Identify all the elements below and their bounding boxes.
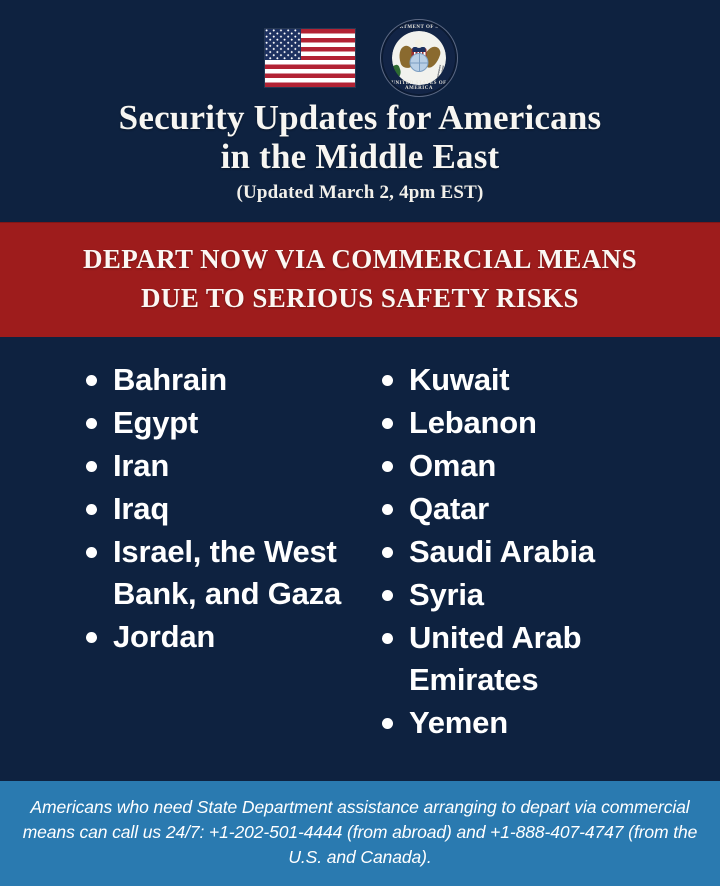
country-name: United Arab Emirates	[409, 617, 682, 701]
country-name: Israel, the West Bank, and Gaza	[113, 531, 376, 615]
list-item: Yemen	[382, 702, 682, 744]
security-update-infographic: DEPARTMENT OF STATE UNITED STATES OF AME…	[0, 0, 720, 886]
bullet-icon	[382, 375, 393, 386]
us-flag-icon	[265, 29, 355, 87]
page-title-line-2: in the Middle East	[30, 137, 690, 176]
list-item: Egypt	[86, 402, 376, 444]
bullet-icon	[382, 718, 393, 729]
country-list-left: Bahrain Egypt Iran Iraq Israel, the West…	[86, 359, 376, 781]
assistance-contact-text: Americans who need State Department assi…	[22, 795, 698, 870]
list-item: Syria	[382, 574, 682, 616]
list-item: Saudi Arabia	[382, 531, 682, 573]
list-item: Iran	[86, 445, 376, 487]
country-name: Kuwait	[409, 359, 509, 401]
page-title: Security Updates for Americans in the Mi…	[30, 98, 690, 176]
header: DEPARTMENT OF STATE UNITED STATES OF AME…	[0, 0, 720, 204]
bullet-icon	[86, 375, 97, 386]
emblem-row: DEPARTMENT OF STATE UNITED STATES OF AME…	[0, 26, 720, 90]
footer: Americans who need State Department assi…	[0, 781, 720, 886]
country-name: Qatar	[409, 488, 489, 530]
country-list-right: Kuwait Lebanon Oman Qatar Saudi Arabia S…	[382, 359, 682, 781]
country-name: Yemen	[409, 702, 508, 744]
bullet-icon	[382, 590, 393, 601]
list-item: Iraq	[86, 488, 376, 530]
alert-line-1: DEPART NOW VIA COMMERCIAL MEANS	[28, 240, 692, 278]
bullet-icon	[382, 461, 393, 472]
bullet-icon	[382, 418, 393, 429]
country-name: Syria	[409, 574, 484, 616]
seal-arc-bottom-text: UNITED STATES OF AMERICA	[383, 81, 455, 91]
country-name: Egypt	[113, 402, 198, 444]
country-name: Saudi Arabia	[409, 531, 595, 573]
alert-banner: DEPART NOW VIA COMMERCIAL MEANS DUE TO S…	[0, 222, 720, 337]
list-item: Bahrain	[86, 359, 376, 401]
bullet-icon	[86, 461, 97, 472]
list-item: Qatar	[382, 488, 682, 530]
bullet-icon	[382, 547, 393, 558]
list-item: Oman	[382, 445, 682, 487]
bullet-icon	[382, 633, 393, 644]
list-item: Jordan	[86, 616, 376, 658]
department-of-state-seal-icon: DEPARTMENT OF STATE UNITED STATES OF AME…	[383, 22, 455, 94]
country-name: Lebanon	[409, 402, 537, 444]
updated-timestamp: (Updated March 2, 4pm EST)	[30, 182, 690, 204]
country-name: Jordan	[113, 616, 215, 658]
bullet-icon	[382, 504, 393, 515]
seal-arc-top-text: DEPARTMENT OF STATE	[383, 25, 455, 30]
list-item: Lebanon	[382, 402, 682, 444]
bullet-icon	[86, 632, 97, 643]
bullet-icon	[86, 547, 97, 558]
country-name: Bahrain	[113, 359, 227, 401]
title-block: Security Updates for Americans in the Mi…	[0, 90, 720, 204]
country-name: Iraq	[113, 488, 169, 530]
country-name: Oman	[409, 445, 496, 487]
list-item: United Arab Emirates	[382, 617, 682, 701]
country-name: Iran	[113, 445, 169, 487]
alert-line-2: DUE TO SERIOUS SAFETY RISKS	[28, 279, 692, 317]
list-item: Israel, the West Bank, and Gaza	[86, 531, 376, 615]
country-lists: Bahrain Egypt Iran Iraq Israel, the West…	[0, 337, 720, 781]
flag-stars	[265, 29, 301, 60]
page-title-line-1: Security Updates for Americans	[119, 98, 602, 137]
bullet-icon	[86, 418, 97, 429]
list-item: Kuwait	[382, 359, 682, 401]
bullet-icon	[86, 504, 97, 515]
